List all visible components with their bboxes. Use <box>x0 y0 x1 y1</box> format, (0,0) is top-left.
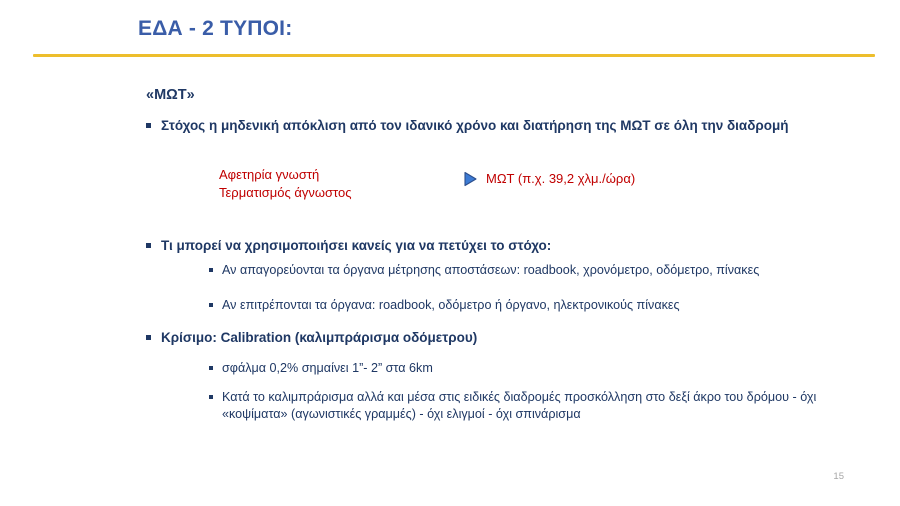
bullet-subitem-error-margin-label: σφάλμα 0,2% σημαίνει 1”- 2” στα 6km <box>222 360 433 377</box>
square-bullet-icon <box>209 303 213 307</box>
callout-mot-speed: ΜΩΤ (π.χ. 39,2 χλμ./ώρα) <box>463 170 635 192</box>
bullet-subitem-road-edge-label: Κατά το καλιμπράρισμα αλλά και μέσα στις… <box>222 389 857 423</box>
bullet-item-goal-label: Στόχος η μηδενική απόκλιση από τον ιδανι… <box>161 117 789 135</box>
square-bullet-icon <box>146 335 151 340</box>
bullet-subitem-forbidden-instruments: Αν απαγορεύονται τα όργανα μέτρησης αποσ… <box>209 262 839 279</box>
square-bullet-icon <box>146 123 151 128</box>
square-bullet-icon <box>146 243 151 248</box>
bullet-subitem-allowed-instruments: Αν επιτρέπονται τα όργανα: roadbook, οδό… <box>209 297 849 314</box>
bullet-subitem-forbidden-instruments-label: Αν απαγορεύονται τα όργανα μέτρησης αποσ… <box>222 262 759 279</box>
slide-body: «ΜΩΤ» Στόχος η μηδενική απόκλιση από τον… <box>0 0 900 506</box>
bullet-subitem-error-margin: σφάλμα 0,2% σημαίνει 1”- 2” στα 6km <box>209 360 829 377</box>
bullet-subitem-allowed-instruments-label: Αν επιτρέπονται τα όργανα: roadbook, οδό… <box>222 297 680 314</box>
bullet-subitem-road-edge: Κατά το καλιμπράρισμα αλλά και μέσα στις… <box>209 389 857 423</box>
bullet-item-calibration-label: Κρίσιμο: Calibration (καλιμπράρισμα οδόμ… <box>161 329 477 347</box>
slide-canvas: ΕΔΑ - 2 ΤΥΠΟΙ: «ΜΩΤ» Στόχος η μηδενική α… <box>0 0 900 506</box>
bullet-item-goal: Στόχος η μηδενική απόκλιση από τον ιδανι… <box>146 117 826 135</box>
bullet-item-tools: Τι μπορεί να χρησιμοποιήσει κανείς για ν… <box>146 237 846 255</box>
bullet-item-calibration: Κρίσιμο: Calibration (καλιμπράρισμα οδόμ… <box>146 329 846 347</box>
callout-mot-speed-label: ΜΩΤ (π.χ. 39,2 χλμ./ώρα) <box>486 170 635 187</box>
section-heading-mot: «ΜΩΤ» <box>146 87 195 103</box>
page-number: 15 <box>833 471 844 482</box>
square-bullet-icon <box>209 366 213 370</box>
square-bullet-icon <box>209 268 213 272</box>
play-triangle-icon <box>463 171 478 192</box>
callout-start-finish-text: Αφετηρία γνωστή Τερματισμός άγνωστος <box>219 166 352 202</box>
bullet-item-tools-label: Τι μπορεί να χρησιμοποιήσει κανείς για ν… <box>161 237 551 255</box>
square-bullet-icon <box>209 395 213 399</box>
